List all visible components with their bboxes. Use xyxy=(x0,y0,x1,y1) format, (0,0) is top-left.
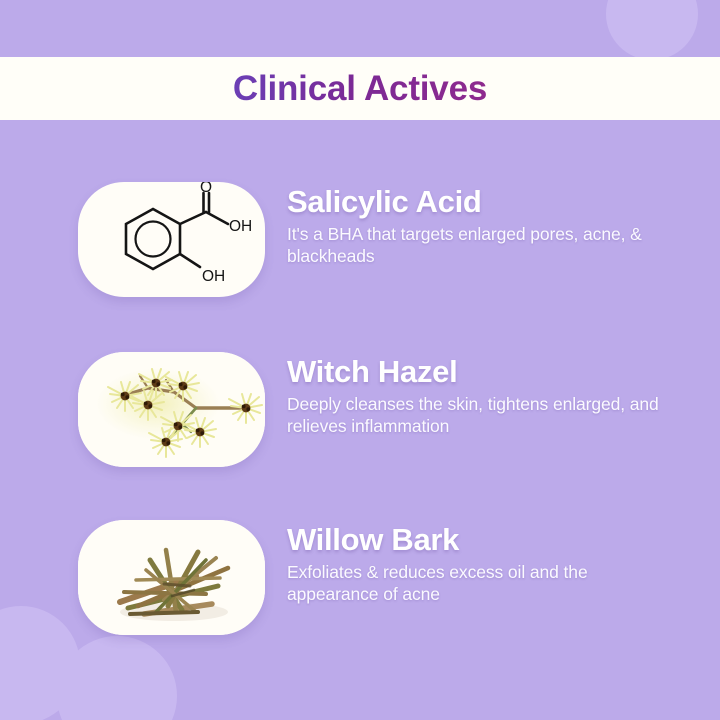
ingredient-list: O OH OH Salicylic Acid It's a BHA that t… xyxy=(0,120,720,720)
ingredient-image-card xyxy=(78,520,265,635)
ingredient-image-card xyxy=(78,352,265,467)
decorative-circle-top-right xyxy=(606,0,698,60)
label-hydroxyl-oh: OH xyxy=(202,268,225,285)
poster-canvas: Clinical Actives xyxy=(0,0,720,720)
ingredient-copy: Willow Bark Exfoliates & reduces excess … xyxy=(287,520,679,605)
willow-bark-strips-icon xyxy=(78,520,265,635)
list-item: Witch Hazel Deeply cleanses the skin, ti… xyxy=(0,352,720,467)
page-title: Clinical Actives xyxy=(233,71,487,106)
ingredient-name: Witch Hazel xyxy=(287,356,679,389)
ingredient-copy: Witch Hazel Deeply cleanses the skin, ti… xyxy=(287,352,679,437)
ingredient-image-card: O OH OH xyxy=(78,182,265,297)
ingredient-name: Willow Bark xyxy=(287,524,679,557)
list-item: O OH OH Salicylic Acid It's a BHA that t… xyxy=(0,182,720,297)
label-carbonyl-o: O xyxy=(200,182,212,196)
ingredient-name: Salicylic Acid xyxy=(287,186,679,219)
ingredient-description: Exfoliates & reduces excess oil and the … xyxy=(287,562,679,605)
salicylic-acid-molecule-icon: O OH OH xyxy=(78,182,265,297)
ingredient-copy: Salicylic Acid It's a BHA that targets e… xyxy=(287,182,679,267)
ingredient-description: It's a BHA that targets enlarged pores, … xyxy=(287,224,679,267)
label-carboxyl-oh: OH xyxy=(229,218,252,235)
ingredient-description: Deeply cleanses the skin, tightens enlar… xyxy=(287,394,679,437)
header-band: Clinical Actives xyxy=(0,57,720,120)
witch-hazel-branch-icon xyxy=(78,352,265,467)
list-item: Willow Bark Exfoliates & reduces excess … xyxy=(0,520,720,635)
